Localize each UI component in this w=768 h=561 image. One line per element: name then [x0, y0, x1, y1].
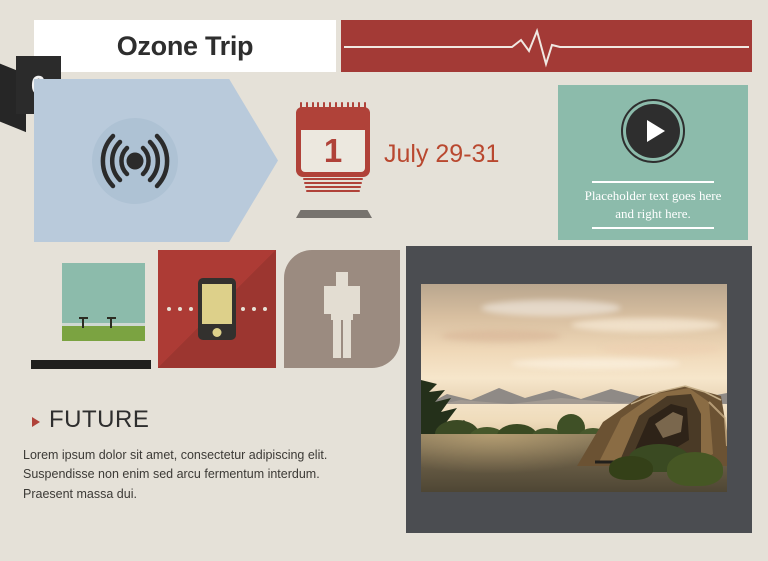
broadcast-signal-icon [92, 118, 178, 204]
slide-title-bar: Ozone Trip [34, 20, 336, 72]
date-label: July 29-31 [384, 140, 499, 169]
camping-tent-sunset-photo [421, 284, 727, 492]
phone-screen [202, 284, 232, 324]
future-heading-row: FUTURE [32, 406, 149, 434]
blue-arrow-panel [34, 79, 278, 242]
pulse-line-icon [341, 20, 752, 72]
calendar-body: 1 [296, 127, 370, 177]
thumbnail-underline-bar [31, 360, 151, 369]
thumb-sky [62, 263, 145, 325]
section-heading: FUTURE [49, 406, 149, 434]
play-button-icon[interactable] [621, 99, 685, 163]
smartphone-icon [198, 278, 236, 340]
placeholder-text: Placeholder text goes here and right her… [574, 187, 732, 222]
phone-home-button [213, 328, 222, 337]
phone-tile[interactable] [158, 250, 276, 368]
play-disc [626, 104, 680, 158]
person-tile[interactable] [284, 250, 400, 368]
pulse-banner [341, 20, 752, 72]
calendar-page: 1 [301, 130, 365, 172]
play-triangle [647, 120, 665, 142]
thumb-field [62, 326, 145, 341]
calendar-day-number: 1 [324, 134, 342, 167]
photo-frame [406, 246, 752, 533]
person-figure-icon [316, 272, 368, 358]
page-title: Ozone Trip [117, 31, 254, 62]
calendar-header [296, 107, 370, 129]
calendar-page-stack [303, 176, 363, 192]
divider-bottom [592, 227, 714, 229]
calendar-shadow [296, 210, 372, 218]
calendar-icon: 1 [296, 102, 370, 192]
landscape-photo-thumbnail [62, 263, 145, 341]
triangle-bullet-icon [32, 417, 40, 427]
divider-top [592, 181, 714, 183]
video-placeholder-card[interactable]: Placeholder text goes here and right her… [558, 85, 748, 240]
section-body-text: Lorem ipsum dolor sit amet, consectetur … [23, 446, 331, 504]
slide-canvas: Ozone Trip 6 [0, 0, 768, 561]
